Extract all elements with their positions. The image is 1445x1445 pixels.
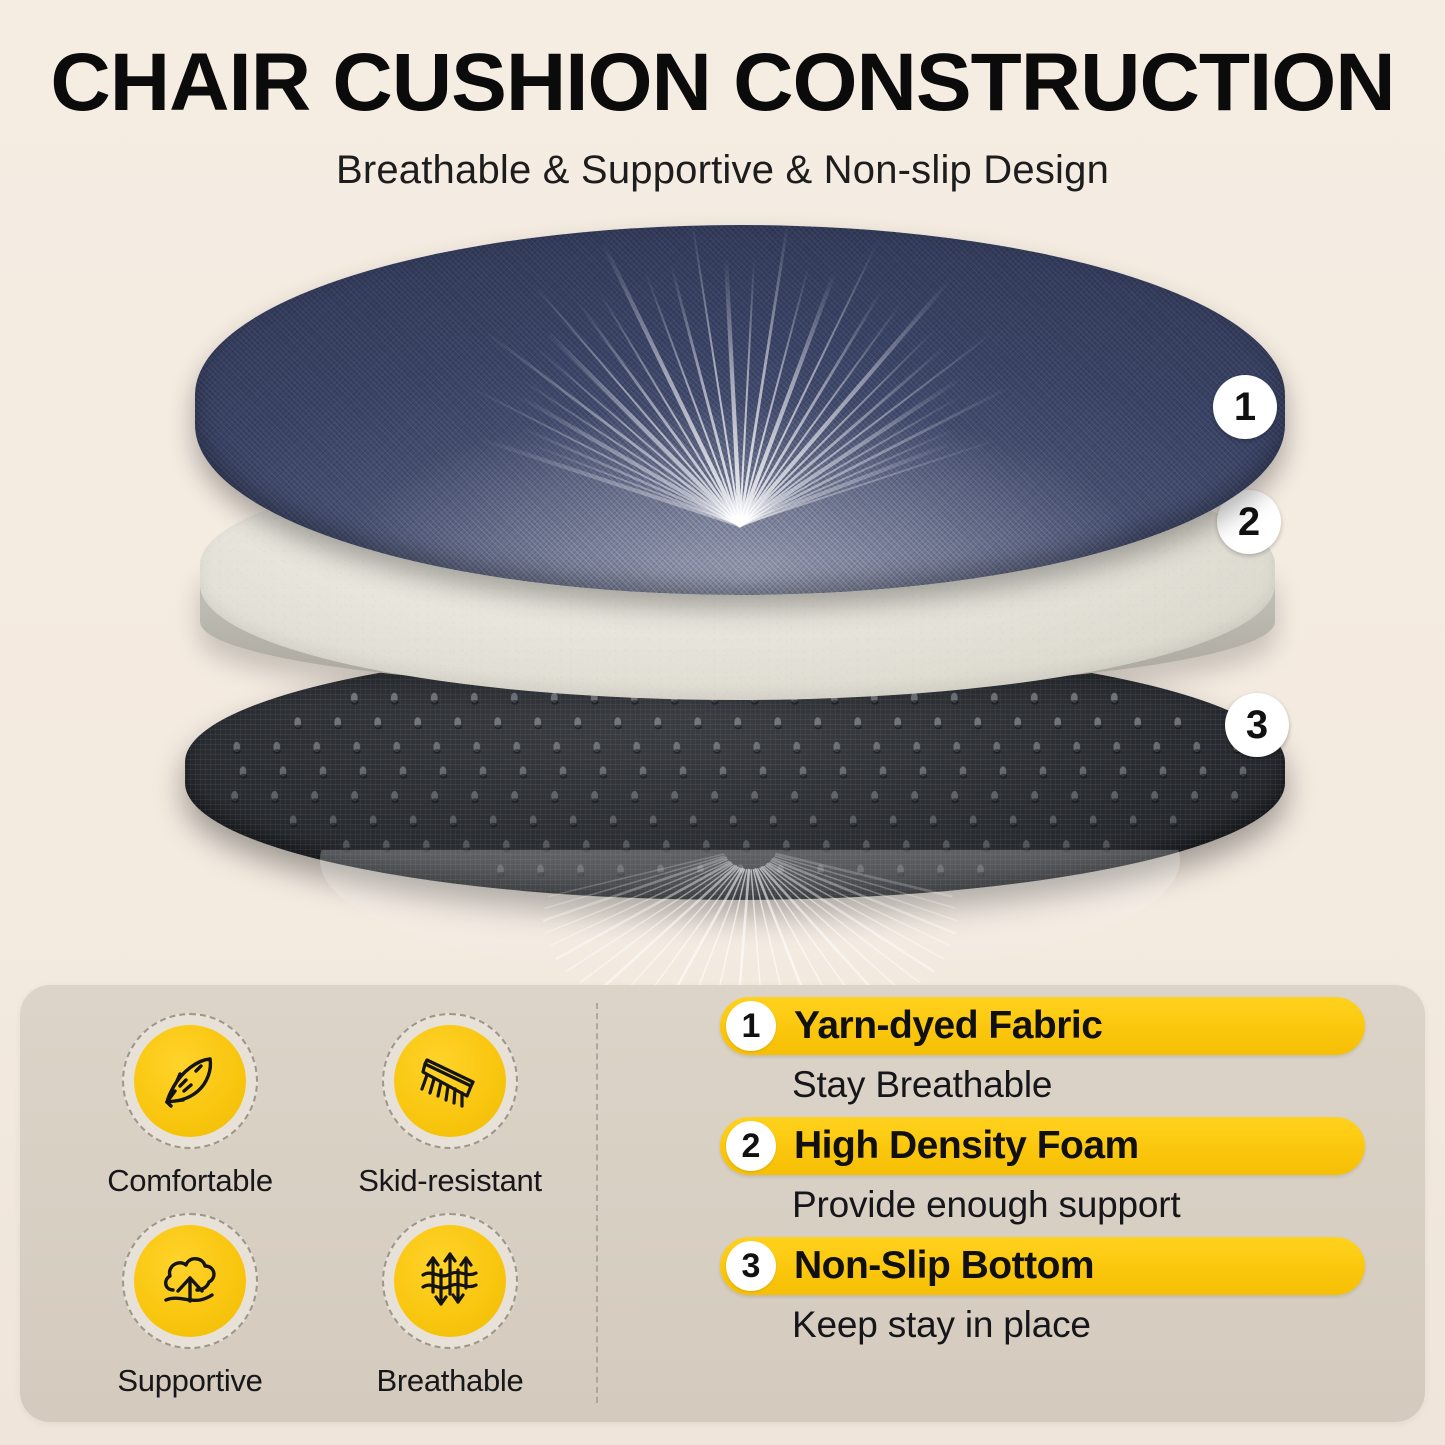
panel-divider: [596, 1003, 598, 1403]
detail-number-badge-3: 3: [726, 1241, 776, 1291]
feature-label: Supportive: [117, 1363, 262, 1399]
grip-brush-icon: [413, 1044, 487, 1118]
feature-icon-ring: [382, 1213, 518, 1349]
layer-badge-1-text: 1: [1234, 385, 1256, 430]
detail-title-1: Yarn-dyed Fabric: [794, 1004, 1102, 1048]
detail-pill-1[interactable]: 1 Yarn-dyed Fabric: [720, 997, 1365, 1055]
feature-label: Breathable: [377, 1363, 524, 1399]
detail-number-2: 2: [742, 1129, 761, 1163]
detail-row-1[interactable]: 1 Yarn-dyed Fabric Stay Breathable: [720, 997, 1410, 1106]
product-exploded-view: 3 2: [0, 195, 1445, 975]
feature-icon-disc: [134, 1225, 246, 1337]
layer-badge-1: 1: [1213, 375, 1277, 439]
detail-row-2[interactable]: 2 High Density Foam Provide enough suppo…: [720, 1117, 1410, 1226]
detail-pill-3[interactable]: 3 Non-Slip Bottom: [720, 1237, 1365, 1295]
feature-comfortable[interactable]: Comfortable: [60, 1003, 320, 1203]
feather-icon: [153, 1044, 227, 1118]
feature-supportive[interactable]: Supportive: [60, 1203, 320, 1403]
header: CHAIR CUSHION CONSTRUCTION Breathable & …: [0, 42, 1445, 193]
detail-title-3: Non-Slip Bottom: [794, 1244, 1094, 1288]
navy-fabric-surface: [195, 225, 1285, 595]
detail-desc-2: Provide enough support: [792, 1184, 1410, 1226]
feature-icon-ring: [122, 1013, 258, 1149]
feature-icon-disc: [134, 1025, 246, 1137]
feature-breathable[interactable]: Breathable: [320, 1203, 580, 1403]
feature-icon-disc: [394, 1225, 506, 1337]
breathability-light-rays: [195, 225, 1285, 535]
feature-icon-grid: Comfortable: [60, 1003, 580, 1403]
feature-label: Skid-resistant: [358, 1163, 542, 1199]
airflow-waves-icon: [413, 1244, 487, 1318]
page-subtitle: Breathable & Supportive & Non-slip Desig…: [0, 148, 1445, 193]
yarn-dyed-fabric-layer: 1: [195, 225, 1285, 595]
page-title: CHAIR CUSHION CONSTRUCTION: [0, 42, 1445, 124]
info-panel: Comfortable: [20, 985, 1425, 1422]
detail-desc-1: Stay Breathable: [792, 1064, 1410, 1106]
feature-icon-ring: [122, 1213, 258, 1349]
detail-list: 1 Yarn-dyed Fabric Stay Breathable 2 Hig…: [720, 997, 1410, 1346]
detail-desc-3: Keep stay in place: [792, 1304, 1410, 1346]
detail-row-3[interactable]: 3 Non-Slip Bottom Keep stay in place: [720, 1237, 1410, 1346]
detail-number-badge-2: 2: [726, 1121, 776, 1171]
detail-title-2: High Density Foam: [794, 1124, 1139, 1168]
detail-number-badge-1: 1: [726, 1001, 776, 1051]
cloud-up-arrow-icon: [153, 1244, 227, 1318]
detail-number-1: 1: [742, 1009, 761, 1043]
detail-pill-2[interactable]: 2 High Density Foam: [720, 1117, 1365, 1175]
feature-icon-disc: [394, 1025, 506, 1137]
feature-icon-ring: [382, 1013, 518, 1149]
feature-label: Comfortable: [107, 1163, 273, 1199]
feature-skid-resistant[interactable]: Skid-resistant: [320, 1003, 580, 1203]
detail-number-3: 3: [742, 1249, 761, 1283]
infographic-canvas: CHAIR CUSHION CONSTRUCTION Breathable & …: [0, 0, 1445, 1445]
